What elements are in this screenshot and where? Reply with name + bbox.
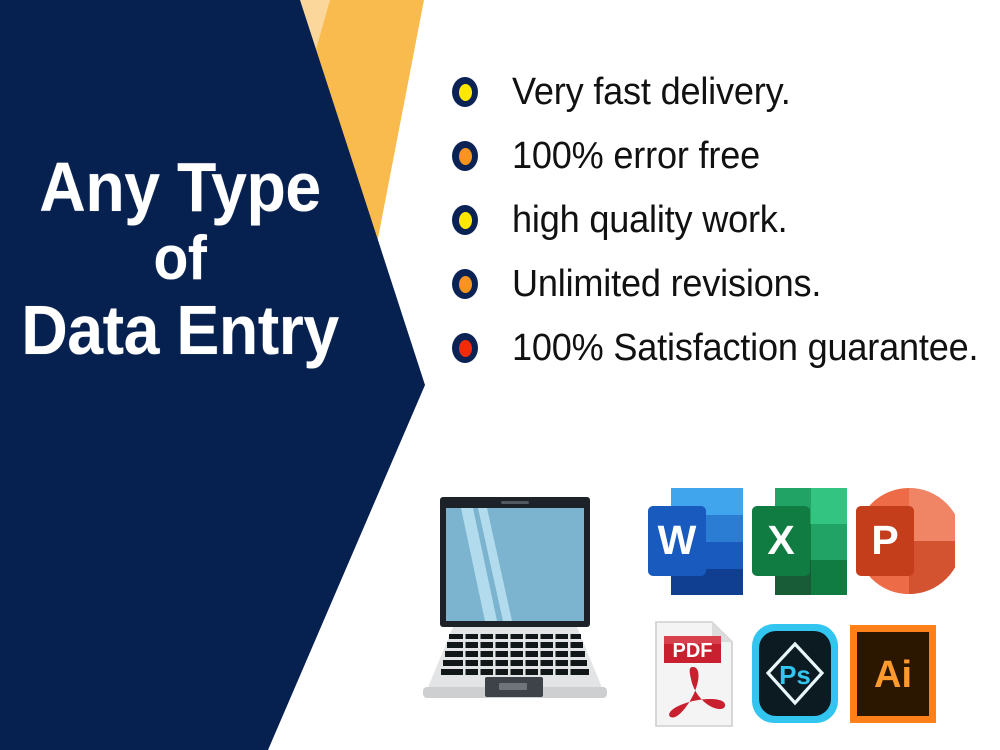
bullet-dot-icon bbox=[452, 333, 478, 363]
headline-block: Any Type of Data Entry bbox=[14, 150, 345, 368]
list-item: 100% error free bbox=[452, 124, 1000, 188]
banner-canvas: Any Type of Data Entry Very fast deliver… bbox=[0, 0, 1000, 750]
feature-label-4: Unlimited revisions. bbox=[512, 263, 821, 306]
photoshop-label: Ps bbox=[779, 660, 811, 690]
headline-line-3: Data Entry bbox=[14, 293, 345, 369]
pdf-label: PDF bbox=[673, 640, 713, 662]
bullet-dot-icon bbox=[452, 205, 478, 235]
headline-line-1: Any Type bbox=[14, 150, 345, 226]
word-letter: W bbox=[658, 517, 697, 563]
powerpoint-letter: P bbox=[871, 517, 898, 563]
laptop-trackpad-inner bbox=[499, 683, 527, 690]
list-item: 100% Satisfaction guarantee. bbox=[452, 316, 1000, 380]
laptop-illustration bbox=[415, 495, 615, 710]
feature-label-3: high quality work. bbox=[512, 199, 788, 242]
microsoft-powerpoint-icon[interactable]: P bbox=[853, 485, 955, 598]
pdf-file-icon[interactable]: PDF bbox=[650, 620, 738, 730]
illustrator-label: Ai bbox=[874, 654, 912, 696]
adobe-illustrator-icon[interactable]: Ai bbox=[848, 623, 938, 725]
list-item: high quality work. bbox=[452, 188, 1000, 252]
microsoft-word-icon[interactable]: W bbox=[645, 485, 747, 598]
bullet-dot-icon bbox=[452, 77, 478, 107]
list-item: Unlimited revisions. bbox=[452, 252, 1000, 316]
feature-label-1: Very fast delivery. bbox=[512, 71, 791, 114]
microsoft-excel-icon[interactable]: X bbox=[749, 485, 851, 598]
adobe-photoshop-icon[interactable]: Ps bbox=[750, 620, 840, 727]
feature-label-5: 100% Satisfaction guarantee. bbox=[512, 327, 978, 370]
bullet-dot-icon bbox=[452, 269, 478, 299]
list-item: Very fast delivery. bbox=[452, 60, 1000, 124]
office-icon-row: W X P bbox=[645, 485, 955, 600]
excel-letter: X bbox=[767, 517, 794, 563]
headline-line-2: of bbox=[14, 226, 345, 293]
laptop-camera-bar bbox=[501, 501, 529, 504]
adobe-icon-row: PDF Ps Ai bbox=[650, 620, 940, 738]
feature-list: Very fast delivery. 100% error free high… bbox=[452, 60, 1000, 380]
feature-label-2: 100% error free bbox=[512, 135, 760, 178]
bullet-dot-icon bbox=[452, 141, 478, 171]
